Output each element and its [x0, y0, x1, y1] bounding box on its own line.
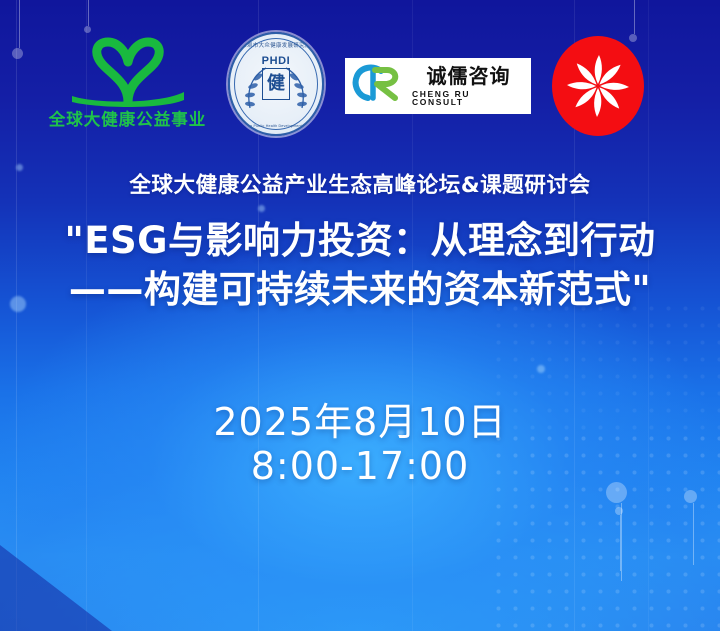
cr-monogram-icon [351, 64, 405, 109]
event-datetime: 2025年8月10日 8:00-17:00 [0, 400, 720, 488]
event-title-line-1: "ESG与影响力投资：从理念到行动 [0, 216, 720, 265]
logo-health-caption: 全球大健康公益事业 [40, 106, 215, 130]
bottom-pin-icon-5 [618, 507, 623, 571]
logo-row: 全球大健康公益事业 深圳市大众健康发展研究院 PHDI [0, 30, 720, 140]
logo-red-flower-emblem [552, 36, 644, 136]
logo-phdi-seal: 深圳市大众健康发展研究院 PHDI [228, 32, 320, 134]
seal-arc-top-text: 深圳市大众健康发展研究院 [230, 41, 322, 49]
logo-global-health-charity: 全球大健康公益事业 [40, 36, 215, 141]
bottom-pin-icon-1 [616, 482, 627, 581]
logo-chengru-consult: 诚儒咨询 CHENG RU CONSULT [345, 58, 531, 114]
glow-dot-4 [537, 365, 545, 373]
phdi-round-seal-icon: 深圳市大众健康发展研究院 PHDI [228, 32, 324, 136]
cr-name-cn: 诚儒咨询 [427, 66, 511, 86]
event-date: 2025年8月10日 [0, 400, 720, 444]
event-subtitle: 全球大健康公益产业生态高峰论坛&课题研讨会 [0, 168, 720, 199]
bottom-pin-icon-4 [690, 490, 697, 565]
event-title-line-2: ——构建可持续未来的资本新范式" [0, 265, 720, 314]
hanging-pin-icon-2 [86, 0, 91, 33]
seal-center-character: 健 [267, 75, 285, 93]
glow-dot-3 [258, 205, 265, 212]
event-time: 8:00-17:00 [0, 444, 720, 488]
event-title: "ESG与影响力投资：从理念到行动 ——构建可持续未来的资本新范式" [0, 216, 720, 314]
corner-triangle-decoration [0, 545, 112, 631]
seal-arc-bottom-text: Shenzhen Public Health Development Insti… [230, 124, 322, 128]
event-poster: 全球大健康公益事业 深圳市大众健康发展研究院 PHDI [0, 0, 720, 631]
red-circle-flower-icon [552, 36, 644, 136]
seal-center-character-box: 健 [262, 68, 290, 100]
cr-name-en: CHENG RU CONSULT [412, 90, 525, 107]
